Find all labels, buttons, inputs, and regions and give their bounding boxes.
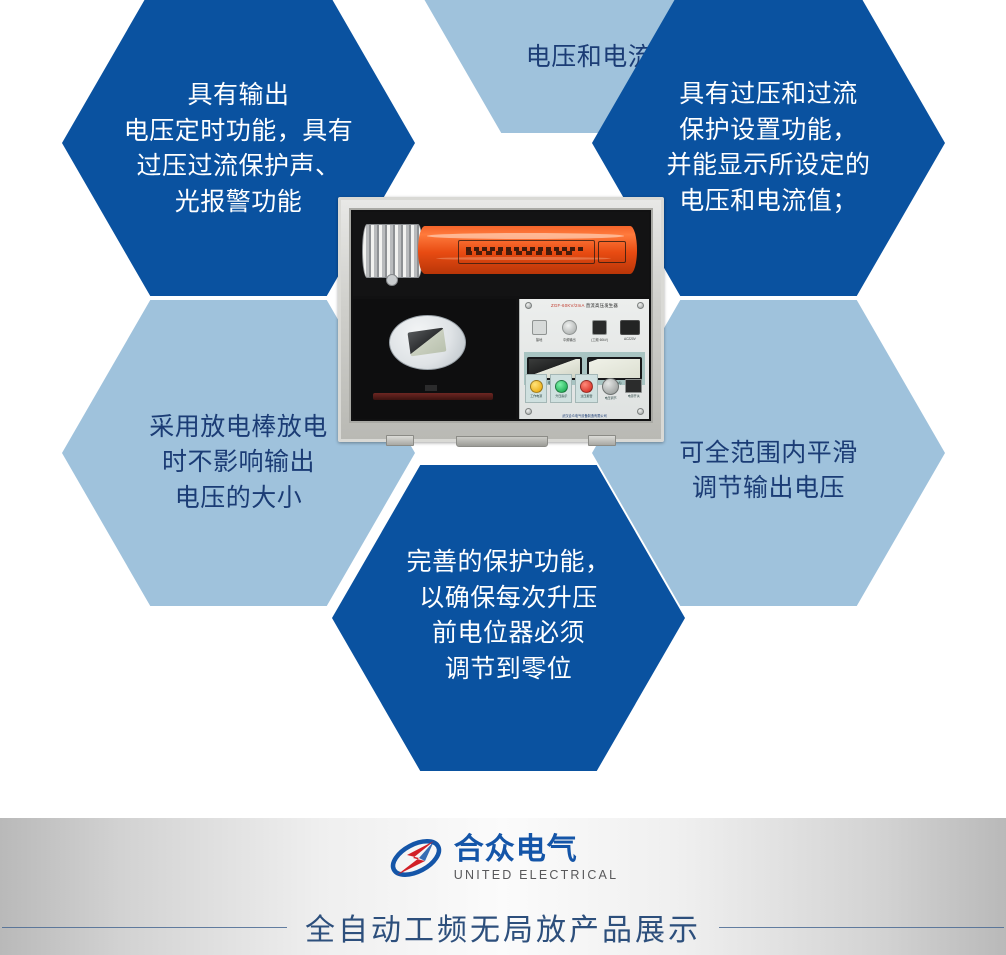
lightning-swoosh-logo-icon (388, 833, 444, 883)
lamp-power: 工作电源 (525, 374, 547, 403)
meter-lcd-screen (408, 328, 447, 357)
port-ground: 接地 (528, 320, 551, 342)
high-voltage-warning-icon (598, 241, 626, 263)
case-handle (456, 436, 548, 447)
control-label: 电源开关 (628, 394, 640, 398)
port-hv-output: (工频 60kV) (588, 320, 611, 342)
lamp-boost: 升压指示 (550, 374, 572, 403)
discharge-rod-handle (425, 385, 437, 391)
product-photo: ZGF-60KV/2mA 直流高压发生器 接地 中频输出 (338, 197, 664, 442)
power-indicator-lamp-icon (530, 380, 543, 393)
panel-name: 直流高压发生器 (586, 303, 618, 308)
hv-cylinder-cap (362, 224, 423, 278)
power-switch[interactable] (625, 379, 642, 393)
lamp-label: 升压指示 (555, 394, 567, 398)
boost-indicator-lamp-icon (555, 380, 568, 393)
lamp-label: 过压报警 (580, 394, 592, 398)
logo-chinese-name: 合众电气 (454, 835, 619, 865)
footer-bar: 合众电气 UNITED ELECTRICAL 全自动工频无局放产品展示 (0, 818, 1006, 955)
product-feature-poster: 具有输出 电压定时功能，具有 过压过流保护声、 光报警功能 电压和电流 具有过压… (0, 0, 1006, 955)
product-case: ZGF-60KV/2mA 直流高压发生器 接地 中频输出 (338, 197, 664, 442)
port-midfreq-output: 中频输出 (558, 320, 581, 342)
lower-foam-bay (353, 299, 516, 419)
case-latch-left (386, 435, 414, 446)
tagline-rule-right (719, 927, 1004, 928)
feature-text-bottom-right: 可全范围内平滑 调节输出电压 (673, 436, 864, 507)
ground-terminal-icon[interactable] (532, 320, 547, 335)
hv-cylinder-terminal (386, 274, 398, 286)
control-panel: ZGF-60KV/2mA 直流高压发生器 接地 中频输出 (519, 299, 649, 419)
panel-title: ZGF-60KV/2mA 直流高压发生器 (520, 303, 649, 309)
tagline-row: 全自动工频无局放产品展示 (0, 904, 1006, 950)
feature-text-bottom-center: 完善的保护功能， 以确保每次升压 前电位器必须 调节到零位 (400, 545, 616, 687)
tagline-rule-left (2, 927, 287, 928)
feature-text-top-left: 具有输出 电压定时功能，具有 过压过流保护声、 光报警功能 (118, 78, 360, 220)
product-case-interior: ZGF-60KV/2mA 直流高压发生器 接地 中频输出 (349, 208, 653, 423)
port-label: 中频输出 (563, 337, 576, 342)
midfreq-output-icon[interactable] (562, 320, 577, 335)
upper-foam-bay (353, 212, 649, 296)
hv-cylinder (418, 226, 637, 275)
company-logo: 合众电气 UNITED ELECTRICAL (0, 830, 1006, 886)
digital-meter (389, 315, 466, 370)
port-label: AC220V (624, 337, 636, 341)
panel-brand-strip: 武汉合众电气设备制造有限公司 (520, 413, 649, 418)
discharge-rod (373, 393, 494, 400)
cylinder-highlight (427, 233, 624, 239)
iec-power-inlet-icon[interactable] (620, 320, 640, 335)
lamp-label: 工作电源 (530, 394, 542, 398)
hv-output-socket-icon[interactable] (592, 320, 607, 335)
logo-wordmark: 合众电气 UNITED ELECTRICAL (454, 835, 619, 882)
lamp-alarm: 过压报警 (575, 374, 597, 403)
overvoltage-alarm-lamp-icon (580, 380, 593, 393)
port-ac-inlet: AC220V (619, 320, 642, 341)
voltage-adjust-knob-group: 电压调节 (601, 375, 621, 402)
power-switch-group: 电源开关 (624, 375, 644, 402)
feature-text-bottom-left: 采用放电棒放电 时不影响输出 电压的大小 (143, 410, 334, 517)
cylinder-label-text-2 (466, 251, 576, 255)
case-latch-right (588, 435, 616, 446)
port-label: 接地 (536, 337, 542, 342)
control-label: 电压调节 (605, 396, 617, 400)
tagline-text: 全自动工频无局放产品展示 (287, 905, 719, 949)
logo-english-name: UNITED ELECTRICAL (454, 869, 619, 882)
panel-lamp-row: 工作电源 升压指示 过压报警 电压调节 (525, 373, 644, 404)
panel-model: ZGF-60KV/2mA (551, 303, 584, 308)
feature-text-top-right: 具有过压和过流 保护设置功能， 并能显示所设定的 电压和电流值； (660, 77, 876, 219)
panel-port-row: 接地 中频输出 (工频 60kV) AC220V (528, 320, 642, 349)
voltage-adjust-knob[interactable] (602, 378, 619, 395)
port-label: (工频 60kV) (591, 337, 608, 342)
